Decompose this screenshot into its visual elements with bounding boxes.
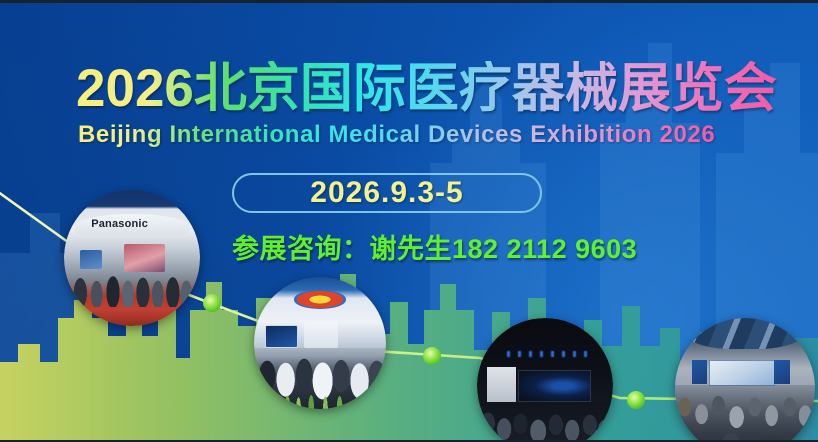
page-title: 2026北京国际医疗器械展览会 (76, 61, 777, 117)
event-date-text: 2026.9.3-5 (310, 178, 463, 208)
photo-circle-auditorium-audience (675, 318, 815, 442)
booth-monitor (265, 325, 299, 348)
auditorium-seated-audience (675, 385, 815, 442)
event-date-badge: 2026.9.3-5 (232, 173, 542, 213)
stage-truss-lights (507, 351, 591, 358)
photo-circle-medical-device-booth (254, 277, 386, 409)
booth-main-display (124, 244, 165, 271)
auditorium-left-banner (692, 360, 707, 384)
booth-side-display (80, 250, 102, 269)
photo-circle-panasonic-booth: Panasonic (64, 190, 200, 326)
auditorium-ceiling-panels (683, 318, 806, 349)
photo-circle-conference-main-stage (477, 318, 613, 442)
auditorium-projection-screen (709, 360, 775, 386)
booth-info-panel (304, 322, 338, 348)
stage-led-screen (518, 370, 591, 402)
hall-audience (477, 402, 613, 442)
surgical-ring-light (294, 290, 347, 308)
auditorium-right-banner (774, 360, 789, 384)
booth-visitors (64, 272, 200, 307)
page-subtitle: Beijing International Medical Devices Ex… (78, 121, 715, 149)
panasonic-logo-text: Panasonic (91, 218, 148, 230)
exhibition-poster: Panasonic (0, 0, 818, 442)
contact-info: 参展咨询：谢先生182 2112 9603 (232, 233, 637, 265)
decorative-plants (278, 385, 357, 409)
